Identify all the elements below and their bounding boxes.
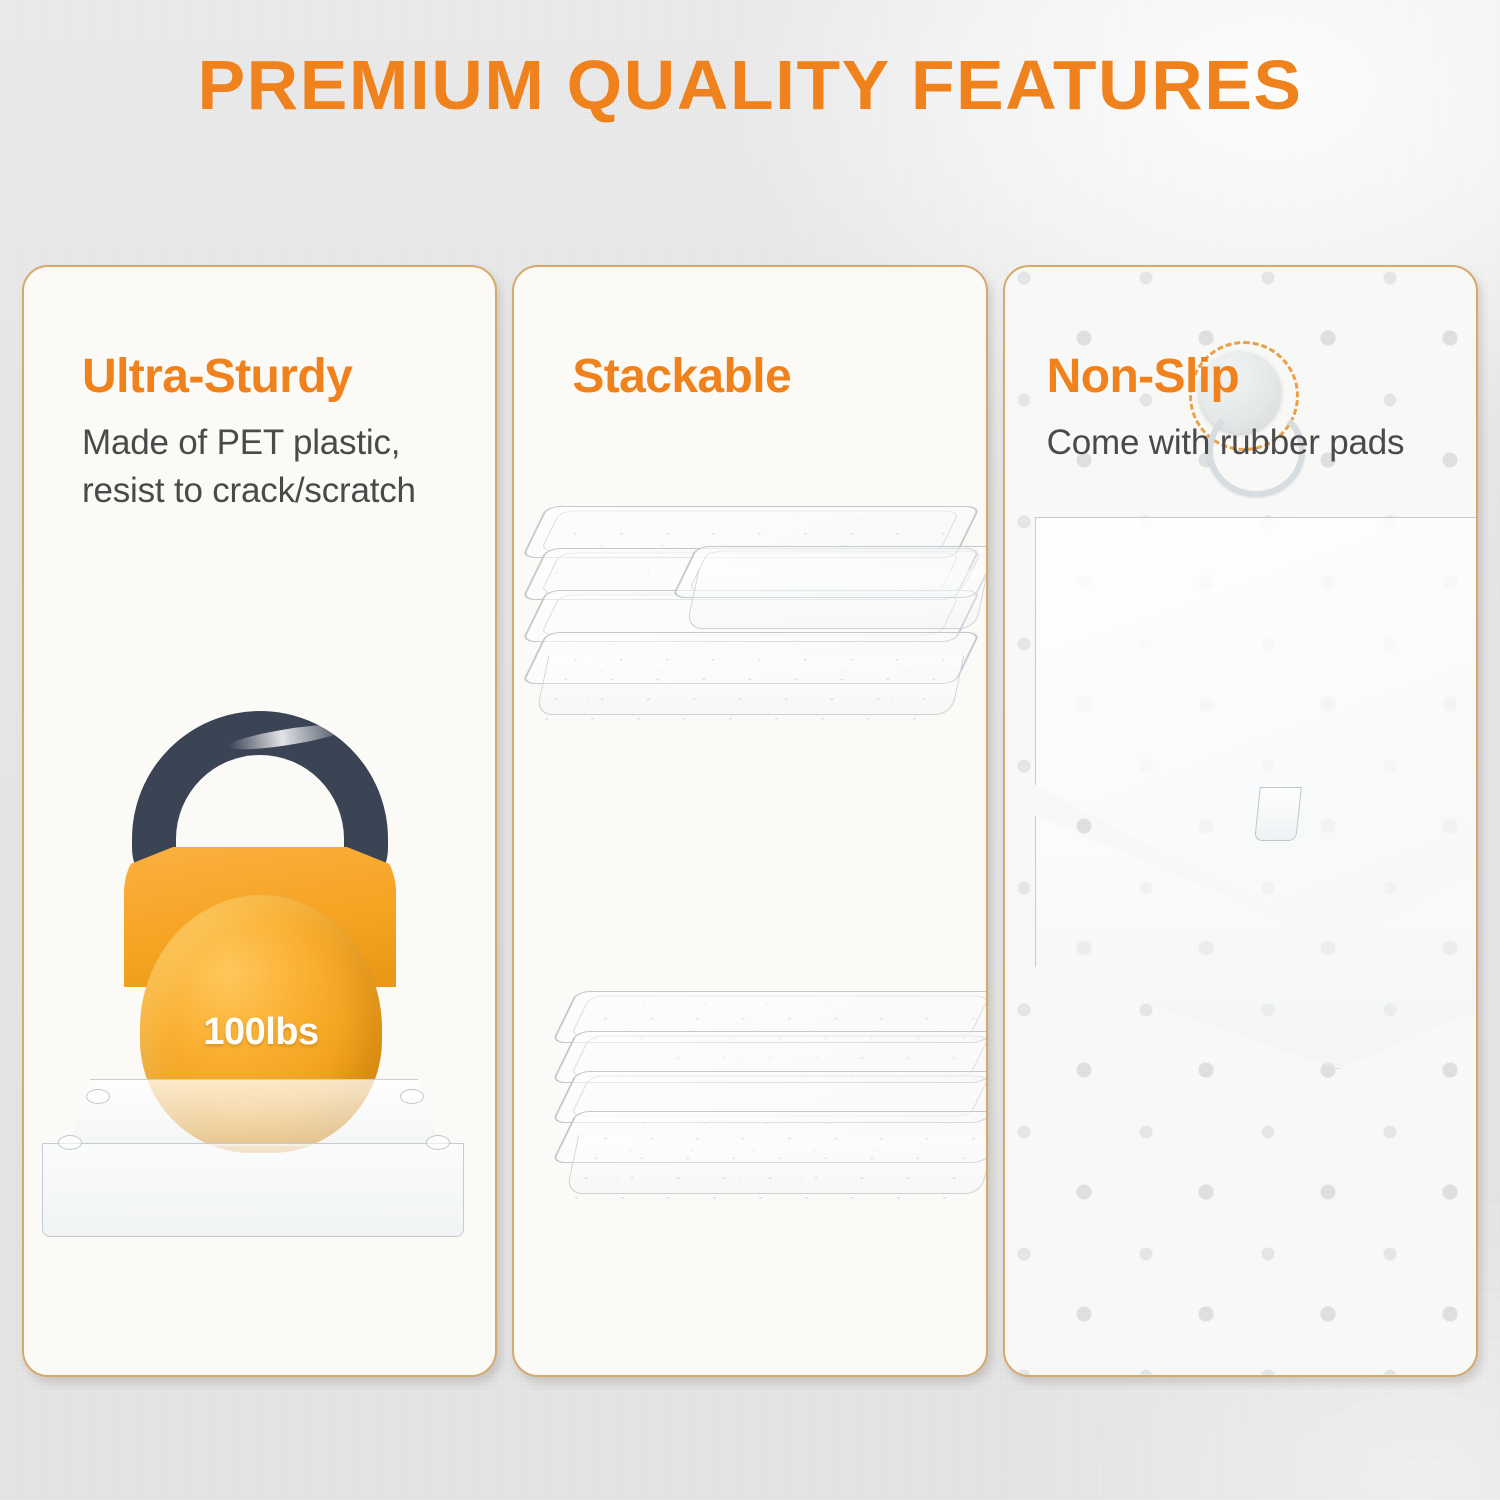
page-title: PREMIUM QUALITY FEATURES [0,46,1500,124]
clear-bin [564,1087,987,1237]
lower-bin-stack [564,967,987,1207]
tray-front-face [42,1143,464,1237]
bin-wall [686,570,988,629]
stacked-bins-illustration [514,267,985,1375]
kettlebell-weight-label: 100lbs [203,1011,318,1054]
feature-card-non-slip: Non-Slip Come with rubber pads [1003,265,1478,1377]
feature-card-stackable: Stackable [512,265,987,1377]
tray-top-surface [68,1079,440,1146]
card-subtitle: Made of PET plastic, resist to crack/scr… [82,419,416,515]
card-header: Stackable [572,349,791,419]
tray-foot-icon [400,1089,424,1104]
upper-bin-stack [534,482,964,722]
card-subtitle: Come with rubber pads [1047,419,1405,467]
bin-speckle-texture [545,1123,987,1201]
tray-foot-icon [58,1135,82,1150]
clear-tray [42,1079,462,1254]
tray-foot-icon [426,1135,450,1150]
bin-corner-detail [1254,787,1302,841]
feature-cards-row: Ultra-Sturdy Made of PET plastic, resist… [22,265,1478,1377]
card-header: Non-Slip Come with rubber pads [1047,349,1405,467]
card-title: Stackable [572,349,791,405]
card-title: Ultra-Sturdy [82,349,416,405]
feature-card-ultra-sturdy: Ultra-Sturdy Made of PET plastic, resist… [22,265,497,1377]
infographic-page: PREMIUM QUALITY FEATURES Ultra-Sturdy Ma… [0,0,1500,1500]
tray-foot-icon [86,1089,110,1104]
kettlebell-illustration: 100lbs [24,707,495,1377]
clear-bin-overlay [684,522,984,672]
card-title: Non-Slip [1047,349,1405,405]
card-header: Ultra-Sturdy Made of PET plastic, resist… [82,349,416,515]
